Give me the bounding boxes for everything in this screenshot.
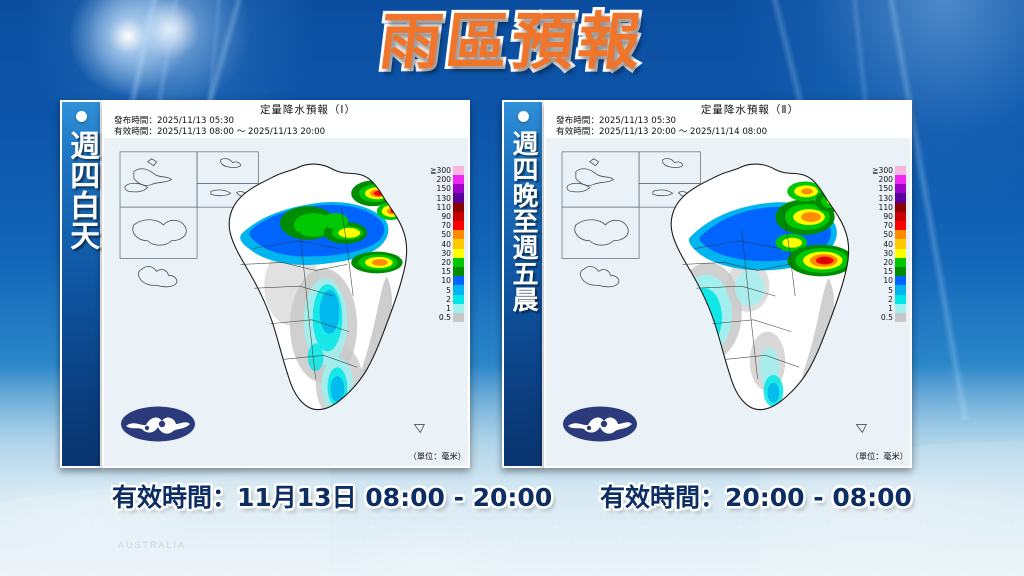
legend-swatch — [895, 239, 906, 248]
legend-row: ≧300 — [850, 166, 906, 175]
valid-time-1: 有效時間：2025/11/13 08:00 ～ 2025/11/13 20:00 — [114, 127, 462, 138]
legend-label: 130 — [879, 194, 894, 203]
chart-title-1: 定量降水預報（Ⅰ） — [114, 104, 462, 116]
legend-row: 110 — [408, 203, 464, 212]
legend-label: 110 — [879, 203, 894, 212]
legend-swatch — [453, 193, 464, 202]
legend-row: ≧300 — [408, 166, 464, 175]
issued-time-1: 發布時間：2025/11/13 05:30 — [114, 116, 462, 127]
day-tag-2: 週四晚至週五晨 — [502, 100, 544, 468]
legend-row: 40 — [408, 240, 464, 249]
legend-swatch — [895, 276, 906, 285]
legend-swatch — [895, 230, 906, 239]
legend-row: 20 — [408, 258, 464, 267]
legend-label: 50 — [441, 230, 451, 239]
legend-swatch — [453, 230, 464, 239]
legend-label: 1 — [888, 304, 893, 313]
legend-swatch — [895, 221, 906, 230]
legend-label: 130 — [437, 194, 452, 203]
title-container: 雨區預報 — [0, 8, 1024, 76]
valid-time-2: 有效時間：2025/11/13 20:00 ～ 2025/11/14 08:00 — [556, 127, 904, 138]
legend-swatch — [453, 175, 464, 184]
legend-swatch — [453, 295, 464, 304]
legend-swatch — [453, 184, 464, 193]
legend-label: ≧300 — [430, 166, 451, 175]
legend-swatch — [895, 285, 906, 294]
legend-label: 40 — [441, 240, 451, 249]
legend-swatch — [453, 221, 464, 230]
legend-units-1: （單位：毫米） — [409, 450, 466, 462]
legend-label: 200 — [879, 175, 894, 184]
bullet-dot-icon-2 — [518, 111, 529, 122]
legend-row: 50 — [408, 230, 464, 239]
legend-row: 200 — [850, 175, 906, 184]
legend-swatch — [895, 212, 906, 221]
legend-row: 150 — [850, 184, 906, 193]
legend-swatch — [895, 175, 906, 184]
page-title: 雨區預報 — [376, 8, 648, 76]
broadcast-graphic: AUSTRALIA 雨區預報 週四白天 定量降水預報（Ⅰ） 發布時間：2025/… — [0, 0, 1024, 576]
legend-label: ≧300 — [872, 166, 893, 175]
legend-row: 150 — [408, 184, 464, 193]
bullet-dot-icon — [76, 111, 87, 122]
legend-label: 50 — [883, 230, 893, 239]
legend-label: 20 — [883, 258, 893, 267]
legend-label: 5 — [446, 286, 451, 295]
legend-label: 2 — [446, 295, 451, 304]
legend-row: 90 — [850, 212, 906, 221]
day-tag-label-1: 週四白天 — [66, 130, 97, 250]
card-header-2: 定量降水預報（Ⅱ） 發布時間：2025/11/13 05:30 有效時間：202… — [546, 102, 910, 140]
cwa-logo-icon — [120, 404, 196, 444]
legend-label: 1 — [446, 304, 451, 313]
map-area-2: ≧30020015013011090705040302015105210.5 （… — [546, 138, 910, 466]
legend-row: 90 — [408, 212, 464, 221]
legend-label: 20 — [441, 258, 451, 267]
legend-swatch — [453, 203, 464, 212]
legend-swatch — [895, 313, 906, 322]
legend-label: 40 — [883, 240, 893, 249]
legend-swatch — [453, 212, 464, 221]
card-header-1: 定量降水預報（Ⅰ） 發布時間：2025/11/13 05:30 有效時間：202… — [104, 102, 468, 140]
legend-row: 2 — [850, 295, 906, 304]
legend-label: 30 — [441, 249, 451, 258]
legend-row: 0.5 — [408, 313, 464, 322]
legend-row: 5 — [408, 285, 464, 294]
legend-scale-1: ≧30020015013011090705040302015105210.5 — [408, 166, 464, 322]
legend-row: 0.5 — [850, 313, 906, 322]
legend-row: 50 — [850, 230, 906, 239]
legend-row: 1 — [408, 304, 464, 313]
legend-row: 70 — [408, 221, 464, 230]
legend-label: 0.5 — [881, 313, 893, 322]
legend-label: 30 — [883, 249, 893, 258]
legend-label: 150 — [879, 184, 894, 193]
legend-row: 5 — [850, 285, 906, 294]
legend-swatch — [453, 313, 464, 322]
legend-label: 0.5 — [439, 313, 451, 322]
chart-title-2: 定量降水預報（Ⅱ） — [556, 104, 904, 116]
legend-swatch — [895, 258, 906, 267]
legend-swatch — [453, 304, 464, 313]
legend-row: 30 — [850, 249, 906, 258]
legend-label: 5 — [888, 286, 893, 295]
forecast-card-2: 定量降水預報（Ⅱ） 發布時間：2025/11/13 05:30 有效時間：202… — [544, 100, 912, 468]
legend-label: 90 — [883, 212, 893, 221]
legend-label: 110 — [437, 203, 452, 212]
legend-row: 10 — [408, 276, 464, 285]
legend-row: 15 — [408, 267, 464, 276]
legend-swatch — [895, 203, 906, 212]
legend-label: 70 — [883, 221, 893, 230]
legend-label: 10 — [441, 276, 451, 285]
legend-label: 200 — [437, 175, 452, 184]
legend-swatch — [895, 166, 906, 175]
legend-row: 2 — [408, 295, 464, 304]
legend-swatch — [453, 249, 464, 258]
legend-swatch — [895, 249, 906, 258]
legend-swatch — [453, 285, 464, 294]
legend-units-2: （單位：毫米） — [851, 450, 908, 462]
legend-label: 15 — [883, 267, 893, 276]
caption-valid-time-2: 有效時間：20:00 - 08:00 — [600, 478, 912, 514]
legend-swatch — [453, 239, 464, 248]
legend-label: 70 — [441, 221, 451, 230]
legend-label: 15 — [441, 267, 451, 276]
legend-row: 10 — [850, 276, 906, 285]
legend-row: 20 — [850, 258, 906, 267]
day-tag-1: 週四白天 — [60, 100, 102, 468]
legend-label: 90 — [441, 212, 451, 221]
forecast-card-1: 定量降水預報（Ⅰ） 發布時間：2025/11/13 05:30 有效時間：202… — [102, 100, 470, 468]
day-tag-label-2: 週四晚至週五晨 — [510, 130, 536, 312]
legend-row: 15 — [850, 267, 906, 276]
cwa-logo-icon-2 — [562, 404, 638, 444]
issued-time-2: 發布時間：2025/11/13 05:30 — [556, 116, 904, 127]
legend-label: 2 — [888, 295, 893, 304]
legend-scale-2: ≧30020015013011090705040302015105210.5 — [850, 166, 906, 322]
legend-swatch — [895, 184, 906, 193]
legend-swatch — [453, 267, 464, 276]
legend-label: 150 — [437, 184, 452, 193]
forecast-panel-1: 週四白天 定量降水預報（Ⅰ） 發布時間：2025/11/13 05:30 有效時… — [60, 100, 470, 468]
legend-swatch — [453, 258, 464, 267]
legend-row: 130 — [408, 194, 464, 203]
legend-swatch — [895, 304, 906, 313]
legend-swatch — [453, 276, 464, 285]
legend-label: 10 — [883, 276, 893, 285]
legend-swatch — [895, 295, 906, 304]
legend-row: 30 — [408, 249, 464, 258]
legend-swatch — [895, 267, 906, 276]
legend-row: 70 — [850, 221, 906, 230]
legend-row: 1 — [850, 304, 906, 313]
legend-row: 200 — [408, 175, 464, 184]
legend-row: 110 — [850, 203, 906, 212]
legend-row: 130 — [850, 194, 906, 203]
map-area-1: ≧30020015013011090705040302015105210.5 （… — [104, 138, 468, 466]
forecast-panel-2: 週四晚至週五晨 定量降水預報（Ⅱ） 發布時間：2025/11/13 05:30 … — [502, 100, 912, 468]
legend-swatch — [453, 166, 464, 175]
caption-valid-time-1: 有效時間：11月13日 08:00 - 20:00 — [112, 478, 552, 514]
legend-row: 40 — [850, 240, 906, 249]
legend-swatch — [895, 193, 906, 202]
